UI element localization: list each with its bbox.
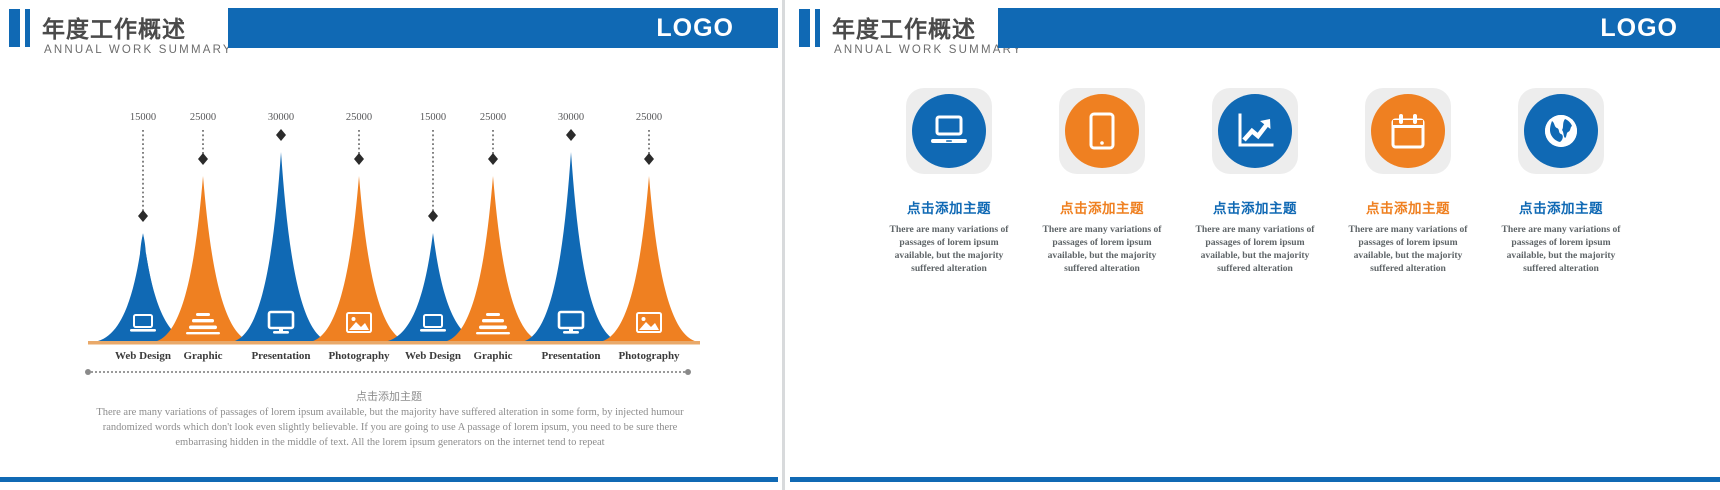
laptop-icon [929, 114, 969, 148]
slide-header: 年度工作概述 ANNUAL WORK SUMMARY LOGO [790, 0, 1720, 78]
icon-tile[interactable] [1518, 88, 1604, 174]
chart-bar-3[interactable] [308, 130, 410, 342]
feature-card[interactable]: 点击添加主题 There are many variations of pass… [1344, 88, 1472, 275]
chart-dotted-rule [88, 371, 688, 374]
page-title: 年度工作概述 [832, 10, 976, 44]
page-subtitle: ANNUAL WORK SUMMARY [834, 44, 1023, 56]
panel-divider [782, 0, 785, 490]
feature-card[interactable]: 点击添加主题 There are many variations of pass… [885, 88, 1013, 275]
logo: LOGO [1600, 14, 1678, 43]
header-accent-bar-thick [799, 9, 810, 47]
chart-value-label: 30000 [268, 112, 294, 123]
card-text: There are many variations of passages of… [1497, 223, 1625, 275]
header-accent-bar-thin [25, 9, 30, 47]
chart-bar-7[interactable] [598, 130, 700, 342]
chart-value-label: 25000 [346, 112, 372, 123]
icon-circle [1371, 94, 1445, 168]
card-text: There are many variations of passages of… [1191, 223, 1319, 275]
calendar-icon [1389, 112, 1427, 150]
slide-right: 年度工作概述 ANNUAL WORK SUMMARY LOGO 点击 [790, 0, 1720, 490]
icon-circle [1218, 94, 1292, 168]
page-title: 年度工作概述 [42, 10, 186, 44]
chart-bar-1[interactable] [152, 130, 254, 342]
card-title: 点击添加主题 [1344, 197, 1472, 217]
icon-tile[interactable] [1212, 88, 1298, 174]
card-title: 点击添加主题 [1497, 197, 1625, 217]
chart-category-label: Graphic [473, 350, 512, 362]
chart-bar-0[interactable] [92, 130, 194, 342]
card-text: There are many variations of passages of… [1038, 223, 1166, 275]
footer-rule [0, 477, 778, 482]
chart-value-label: 25000 [190, 112, 216, 123]
icon-circle [1065, 94, 1139, 168]
chart-bar-4[interactable] [382, 130, 484, 342]
chart-bar-5[interactable] [442, 130, 544, 342]
slide-header: 年度工作概述 ANNUAL WORK SUMMARY LOGO [0, 0, 778, 78]
icon-circle [1524, 94, 1598, 168]
caption-body: There are many variations of passages of… [80, 405, 700, 450]
card-text: There are many variations of passages of… [1344, 223, 1472, 275]
header-accent-bar-thin [815, 9, 820, 47]
chart-value-label: 25000 [480, 112, 506, 123]
slide-deck: 年度工作概述 ANNUAL WORK SUMMARY LOGO [0, 0, 1720, 490]
header-accent-bar-thick [9, 9, 20, 47]
chart-value-label: 15000 [130, 112, 156, 123]
card-text: There are many variations of passages of… [885, 223, 1013, 275]
chart-category-label: Photography [618, 350, 679, 362]
chart-trending-up-icon [1235, 112, 1275, 150]
peak-chart-svg [80, 112, 700, 362]
feature-card[interactable]: 点击添加主题 There are many variations of pass… [1038, 88, 1166, 275]
icon-tile[interactable] [1059, 88, 1145, 174]
chart-bar-2[interactable] [230, 129, 332, 342]
caption-title: 点击添加主题 [0, 388, 778, 404]
globe-icon [1541, 111, 1581, 151]
feature-card[interactable]: 点击添加主题 There are many variations of pass… [1191, 88, 1319, 275]
footer-rule [790, 477, 1720, 482]
slide-left: 年度工作概述 ANNUAL WORK SUMMARY LOGO [0, 0, 778, 490]
chart-value-label: 15000 [420, 112, 446, 123]
logo: LOGO [656, 14, 734, 43]
chart-category-label: Photography [328, 350, 389, 362]
tablet-icon [1088, 112, 1116, 150]
card-title: 点击添加主题 [1038, 197, 1166, 217]
card-title: 点击添加主题 [1191, 197, 1319, 217]
chart-category-label: Graphic [183, 350, 222, 362]
peak-chart: 15000 25000 30000 25000 15000 25000 3000… [80, 112, 700, 362]
icon-tile[interactable] [906, 88, 992, 174]
icon-tile[interactable] [1365, 88, 1451, 174]
page-subtitle: ANNUAL WORK SUMMARY [44, 44, 233, 56]
chart-category-label: Web Design [405, 350, 461, 362]
chart-baseline [88, 341, 700, 345]
icon-circle [912, 94, 986, 168]
chart-category-label: Presentation [251, 350, 310, 362]
chart-category-label: Web Design [115, 350, 171, 362]
feature-card-list: 点击添加主题 There are many variations of pass… [885, 88, 1625, 275]
chart-value-label: 25000 [636, 112, 662, 123]
feature-card[interactable]: 点击添加主题 There are many variations of pass… [1497, 88, 1625, 275]
chart-category-label: Presentation [541, 350, 600, 362]
card-title: 点击添加主题 [885, 197, 1013, 217]
chart-bar-6[interactable] [520, 129, 622, 342]
chart-value-label: 30000 [558, 112, 584, 123]
